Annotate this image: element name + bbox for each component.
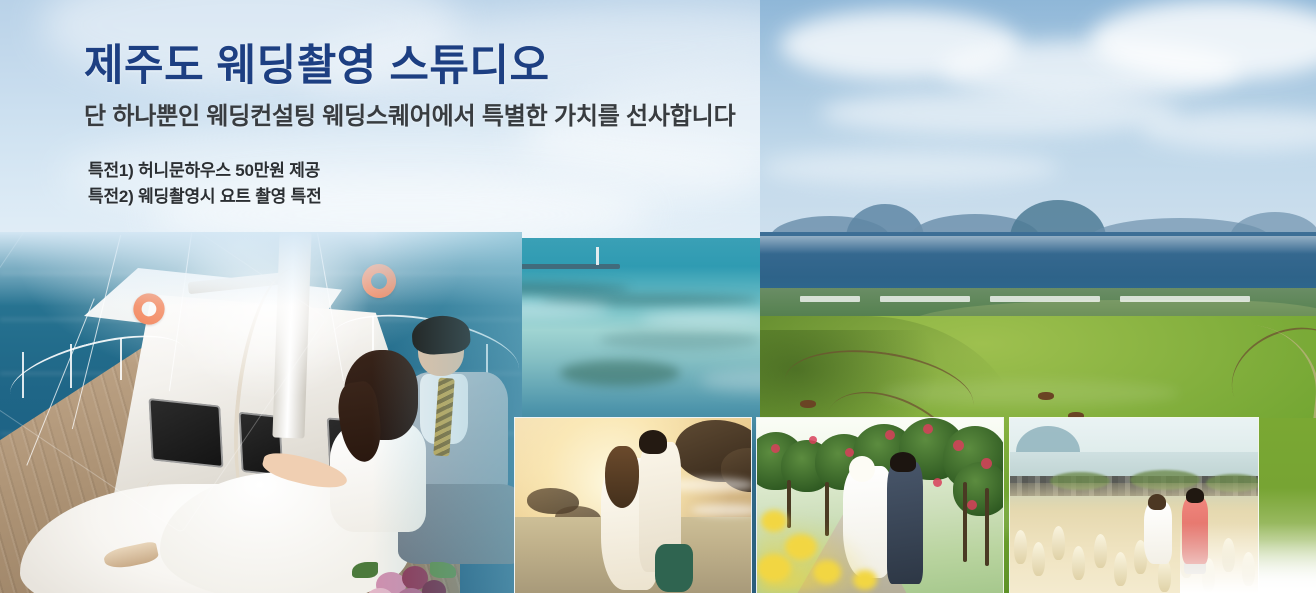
village-houses xyxy=(990,296,1100,302)
field-right-strip xyxy=(1258,418,1316,593)
pampas-plume xyxy=(1242,552,1255,586)
sea-foam xyxy=(640,312,780,326)
village-houses xyxy=(880,296,970,302)
camellia-bloom xyxy=(885,430,895,440)
pampas-plume xyxy=(1222,538,1235,572)
thumbnail-pampas-grass-couple[interactable] xyxy=(1010,418,1258,593)
pampas-plume xyxy=(1072,546,1085,580)
reef-patch xyxy=(600,330,760,350)
lighthouse xyxy=(596,247,599,265)
village-houses xyxy=(1120,296,1250,302)
bouquet-leaf xyxy=(352,562,378,578)
pampas-plume xyxy=(1014,530,1027,564)
bridal-bouquet xyxy=(352,562,462,593)
tree-trunk xyxy=(985,488,989,566)
camellia-tree xyxy=(953,462,1003,516)
bouquet-flower xyxy=(422,580,446,593)
bride-hair xyxy=(1148,494,1166,510)
camellia-bloom xyxy=(771,444,780,453)
camellia-bloom xyxy=(967,500,977,510)
pampas-plume xyxy=(1032,542,1045,576)
village-houses xyxy=(800,296,860,302)
camellia-bloom xyxy=(845,448,854,457)
pampas-grass-field xyxy=(1010,483,1258,593)
cabin-window xyxy=(148,398,223,468)
groom-figure xyxy=(1182,498,1208,564)
sea-shimmer xyxy=(760,236,1316,254)
camellia-bloom xyxy=(923,424,933,434)
bride-figure xyxy=(1144,502,1172,564)
groom-hair xyxy=(1186,488,1204,503)
yellow-flower-bokeh xyxy=(813,560,841,584)
pampas-plume xyxy=(1052,526,1065,560)
yellow-flower-bokeh xyxy=(785,534,817,560)
page-subtitle: 단 하나뿐인 웨딩컨설팅 웨딩스퀘어에서 특별한 가치를 선사합니다 xyxy=(84,102,735,132)
yellow-flower-bokeh xyxy=(757,554,791,582)
reef-patch xyxy=(560,360,680,386)
bride-hair xyxy=(605,446,639,508)
distant-horse xyxy=(800,400,816,408)
camellia-bloom xyxy=(981,458,992,469)
page-title: 제주도 웨딩촬영 스튜디오 xyxy=(84,42,735,90)
perk-list: 특전1) 허니문하우스 50만원 제공 특전2) 웨딩촬영시 요트 촬영 특전 xyxy=(88,158,735,210)
yacht-wedding-photo xyxy=(0,232,522,593)
groom-hair xyxy=(890,452,916,472)
jeju-wedding-studio-banner: 제주도 웨딩촬영 스튜디오 단 하나뿐인 웨딩컨설팅 웨딩스퀘어에서 특별한 가… xyxy=(0,0,1316,593)
tree-trunk xyxy=(963,482,967,562)
perk-item-1: 특전1) 허니문하우스 50만원 제공 xyxy=(88,158,735,184)
wave-foam xyxy=(691,504,751,516)
groom-hair xyxy=(639,430,667,454)
pampas-plume xyxy=(1114,552,1127,586)
camellia-bloom xyxy=(953,440,964,451)
bride-veil xyxy=(849,456,875,482)
railing-stanchion xyxy=(120,338,122,380)
thumbnail-beach-sunset-couple[interactable] xyxy=(515,418,751,593)
perk-item-2: 특전2) 웨딩촬영시 요트 촬영 특전 xyxy=(88,184,735,210)
thumbnail-camellia-garden-couple[interactable] xyxy=(757,418,1003,593)
groom-figure xyxy=(887,462,923,584)
bouquet-leaf xyxy=(430,562,456,578)
pampas-plume xyxy=(1094,534,1107,568)
camellia-bloom xyxy=(933,478,942,487)
camellia-bloom xyxy=(809,436,817,444)
landscape-cloud xyxy=(760,150,1060,186)
yellow-flower-bokeh xyxy=(761,510,787,532)
green-cloth xyxy=(655,544,693,592)
yellow-flower-bokeh xyxy=(853,570,877,590)
banner-copy: 제주도 웨딩촬영 스튜디오 단 하나뿐인 웨딩컨설팅 웨딩스퀘어에서 특별한 가… xyxy=(84,42,735,210)
landscape-cloud xyxy=(820,90,1180,136)
distant-horse xyxy=(1038,392,1054,400)
railing-stanchion xyxy=(22,352,24,398)
